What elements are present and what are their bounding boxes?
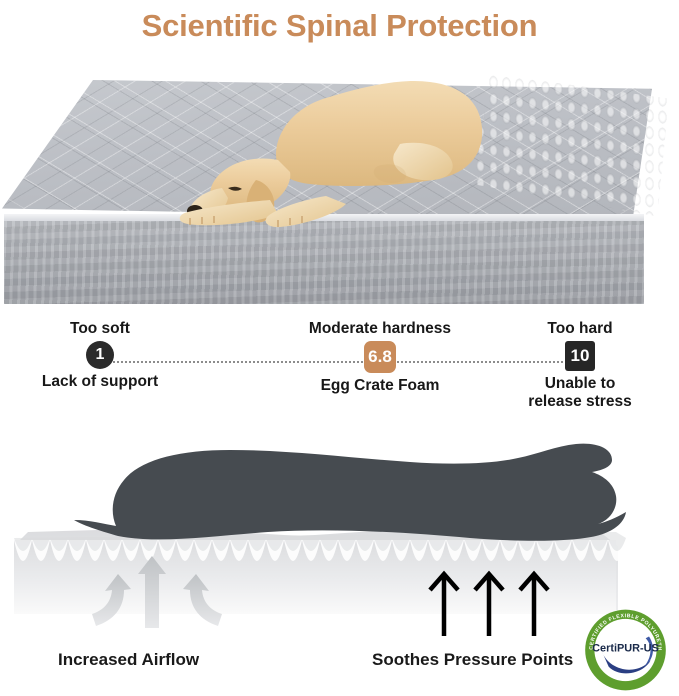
page-title: Scientific Spinal Protection: [142, 8, 538, 44]
scale-marker-bottom-label: Egg Crate Foam: [288, 377, 472, 395]
scale-badge-68: 6.8: [364, 341, 396, 373]
scale-badge-10: 10: [565, 341, 595, 371]
certipur-brand-text: CertiPUR-US: [592, 643, 659, 655]
scale-marker-too-hard: Too hard 10 Unable to release stress: [500, 320, 660, 411]
scale-marker-top-label: Moderate hardness: [288, 320, 472, 338]
soothes-pressure-points-label: Soothes Pressure Points: [372, 650, 573, 670]
increased-airflow-label: Increased Airflow: [58, 650, 199, 670]
scale-marker-bottom-line2: release stress: [500, 393, 660, 411]
scale-marker-top-label: Too hard: [500, 320, 660, 338]
scale-marker-moderate: Moderate hardness 6.8 Egg Crate Foam: [288, 320, 472, 395]
certipur-us-badge: CONTAINS CERTIFIED FLEXIBLE POLYURETHANE…: [578, 608, 673, 692]
scale-marker-bottom-line1: Unable to: [500, 375, 660, 393]
dog-silhouette-side-view: [74, 444, 626, 541]
scale-badge-1: 1: [86, 341, 114, 369]
scale-marker-too-soft: Too soft 1 Lack of support: [10, 320, 190, 391]
labrador-dog-illustration: [150, 52, 510, 238]
headline-banner: Scientific Spinal Protection: [0, 0, 679, 52]
hero-stage: [0, 52, 679, 304]
hardness-scale: Too soft 1 Lack of support Moderate hard…: [0, 312, 679, 422]
scale-marker-bottom-label: Unable to release stress: [500, 375, 660, 411]
scale-marker-bottom-label: Lack of support: [10, 373, 190, 391]
scale-marker-top-label: Too soft: [10, 320, 190, 338]
product-hero-image: [0, 52, 679, 304]
